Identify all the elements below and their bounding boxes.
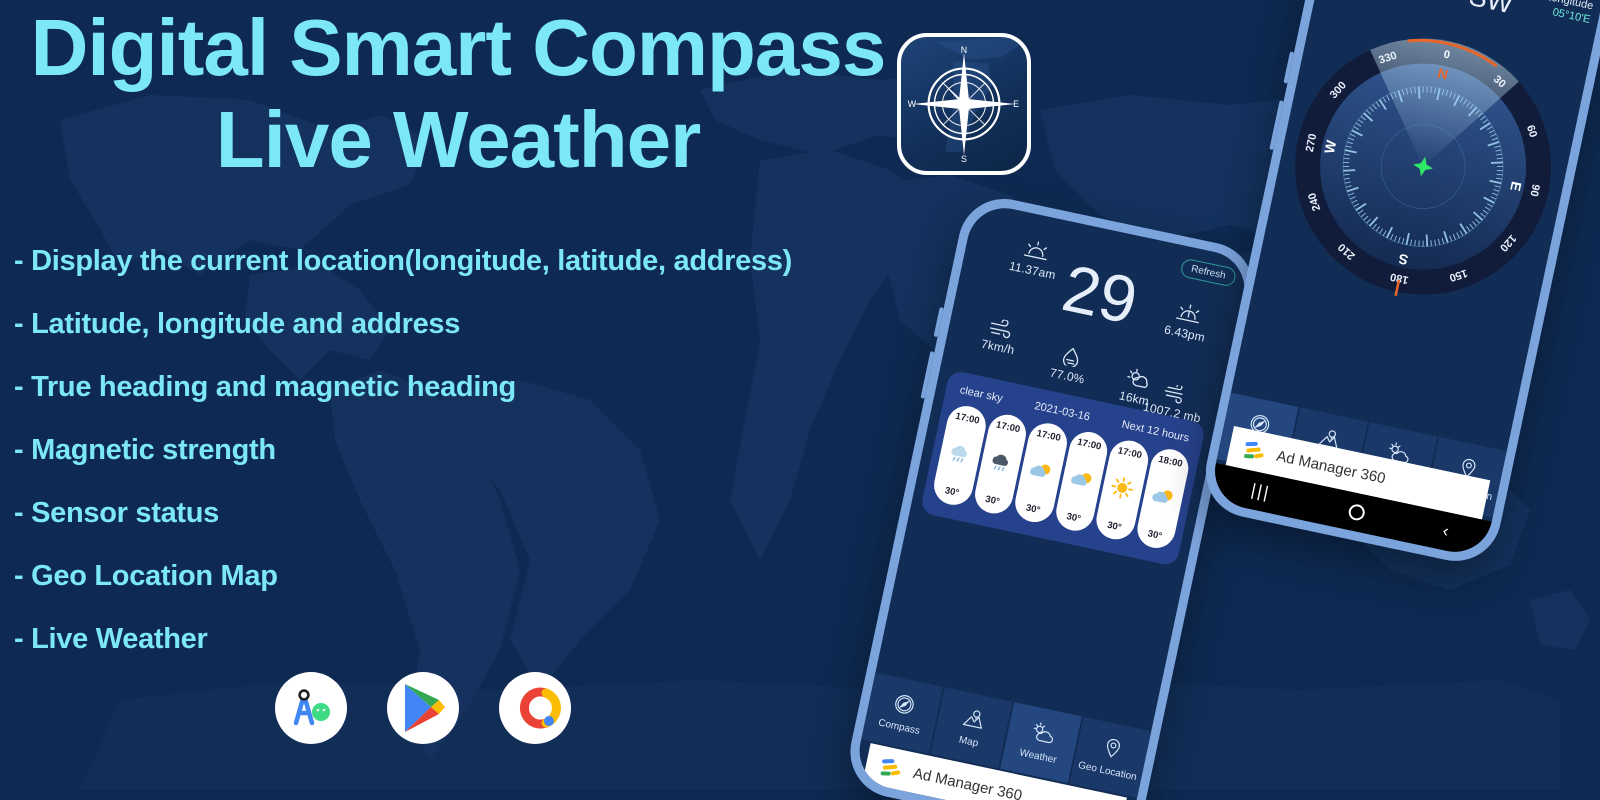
back-icon[interactable]: ‹ <box>1441 521 1451 542</box>
current-temperature: 29 <box>1057 254 1143 334</box>
compass-rose-icon: N E S W <box>905 45 1023 163</box>
sun-cloud-icon <box>1026 458 1057 488</box>
sunrise-metric: 11.37am <box>998 230 1073 284</box>
headline-line-1: Digital Smart Compass <box>18 8 898 88</box>
ad-manager-icon <box>876 754 906 781</box>
feature-item: - Latitude, longitude and address <box>14 308 954 341</box>
forecast-hour-time: 17:00 <box>1076 437 1102 453</box>
storm-cloud-icon <box>986 449 1015 478</box>
forecast-hour-temp: 30° <box>1065 511 1081 525</box>
cardinal-w: W <box>908 99 917 109</box>
sunset-metric: 6.43pm <box>1150 293 1225 347</box>
wind-metric: 7km/h <box>963 307 1038 361</box>
forecast-hour-temp: 30° <box>1147 528 1163 542</box>
store-badges <box>275 672 571 744</box>
nav-label: Weather <box>1018 747 1057 766</box>
humidity-metric: 77.0% <box>1033 336 1108 390</box>
forecast-hour-time: 17:00 <box>1117 445 1143 461</box>
feature-item: - Magnetic strength <box>14 434 954 467</box>
feature-list: - Display the current location(longitude… <box>14 245 954 686</box>
feature-item: - Live Weather <box>14 623 954 656</box>
refresh-button[interactable]: Refresh <box>1179 258 1237 288</box>
app-icon: N E S W <box>897 33 1031 175</box>
nav-label: Geo Location <box>1077 760 1137 783</box>
cardinal-e: E <box>1013 99 1019 109</box>
dial-degree-90: 90 <box>1527 183 1541 197</box>
map-pin-icon <box>960 706 987 735</box>
forecast-hour-time: 17:00 <box>954 411 980 427</box>
feature-item: - Geo Location Map <box>14 560 954 593</box>
android-studio-badge[interactable] <box>275 672 347 744</box>
forecast-hour-time: 17:00 <box>995 419 1021 435</box>
nav-label: Map <box>958 735 979 750</box>
forecast-hour-time: 17:00 <box>1036 428 1062 444</box>
forecast-hour-temp: 30° <box>1025 502 1041 516</box>
weather-icon <box>1028 721 1057 750</box>
forecast-hour-time: 18:00 <box>1157 454 1183 470</box>
admob-badge[interactable] <box>499 672 571 744</box>
compass-icon <box>890 691 917 720</box>
cardinal-s: S <box>961 154 967 163</box>
forecast-condition: clear sky <box>959 384 1004 405</box>
nav-label: Compass <box>877 717 921 737</box>
sun-icon <box>1108 474 1135 505</box>
feature-item: - Sensor status <box>14 497 954 530</box>
rain-cloud-icon <box>945 441 974 470</box>
ad-manager-icon <box>1239 437 1269 464</box>
recents-icon[interactable]: ||| <box>1249 480 1272 504</box>
forecast-hour-temp: 30° <box>984 494 1000 508</box>
nav-item-geo-location[interactable]: Geo Location <box>1070 717 1152 798</box>
compass-dial[interactable]: 0306090120150180210240270300330 NESW <box>1262 5 1585 328</box>
sun-cloud-icon <box>1147 484 1178 514</box>
google-play-badge[interactable] <box>387 672 459 744</box>
headline-line-2: Live Weather <box>18 100 898 180</box>
home-icon[interactable] <box>1347 503 1366 522</box>
heading-readout: 180° SW <box>1404 0 1515 20</box>
sun-cloud-icon <box>1066 466 1097 496</box>
longitude-block: Longitude 05°10'E <box>1542 0 1595 26</box>
feature-item: - Display the current location(longitude… <box>14 245 954 278</box>
page-title: Digital Smart Compass Live Weather <box>18 8 898 180</box>
feature-item: - True heading and magnetic heading <box>14 371 954 404</box>
forecast-date: 2021-03-16 <box>1033 400 1091 423</box>
geo-location-icon <box>1099 735 1126 764</box>
cardinal-n: N <box>961 45 967 55</box>
forecast-hour-temp: 30° <box>1106 520 1122 534</box>
promo-banner: Digital Smart Compass Live Weather - Dis… <box>0 0 1600 800</box>
forecast-hour-temp: 30° <box>944 485 960 499</box>
